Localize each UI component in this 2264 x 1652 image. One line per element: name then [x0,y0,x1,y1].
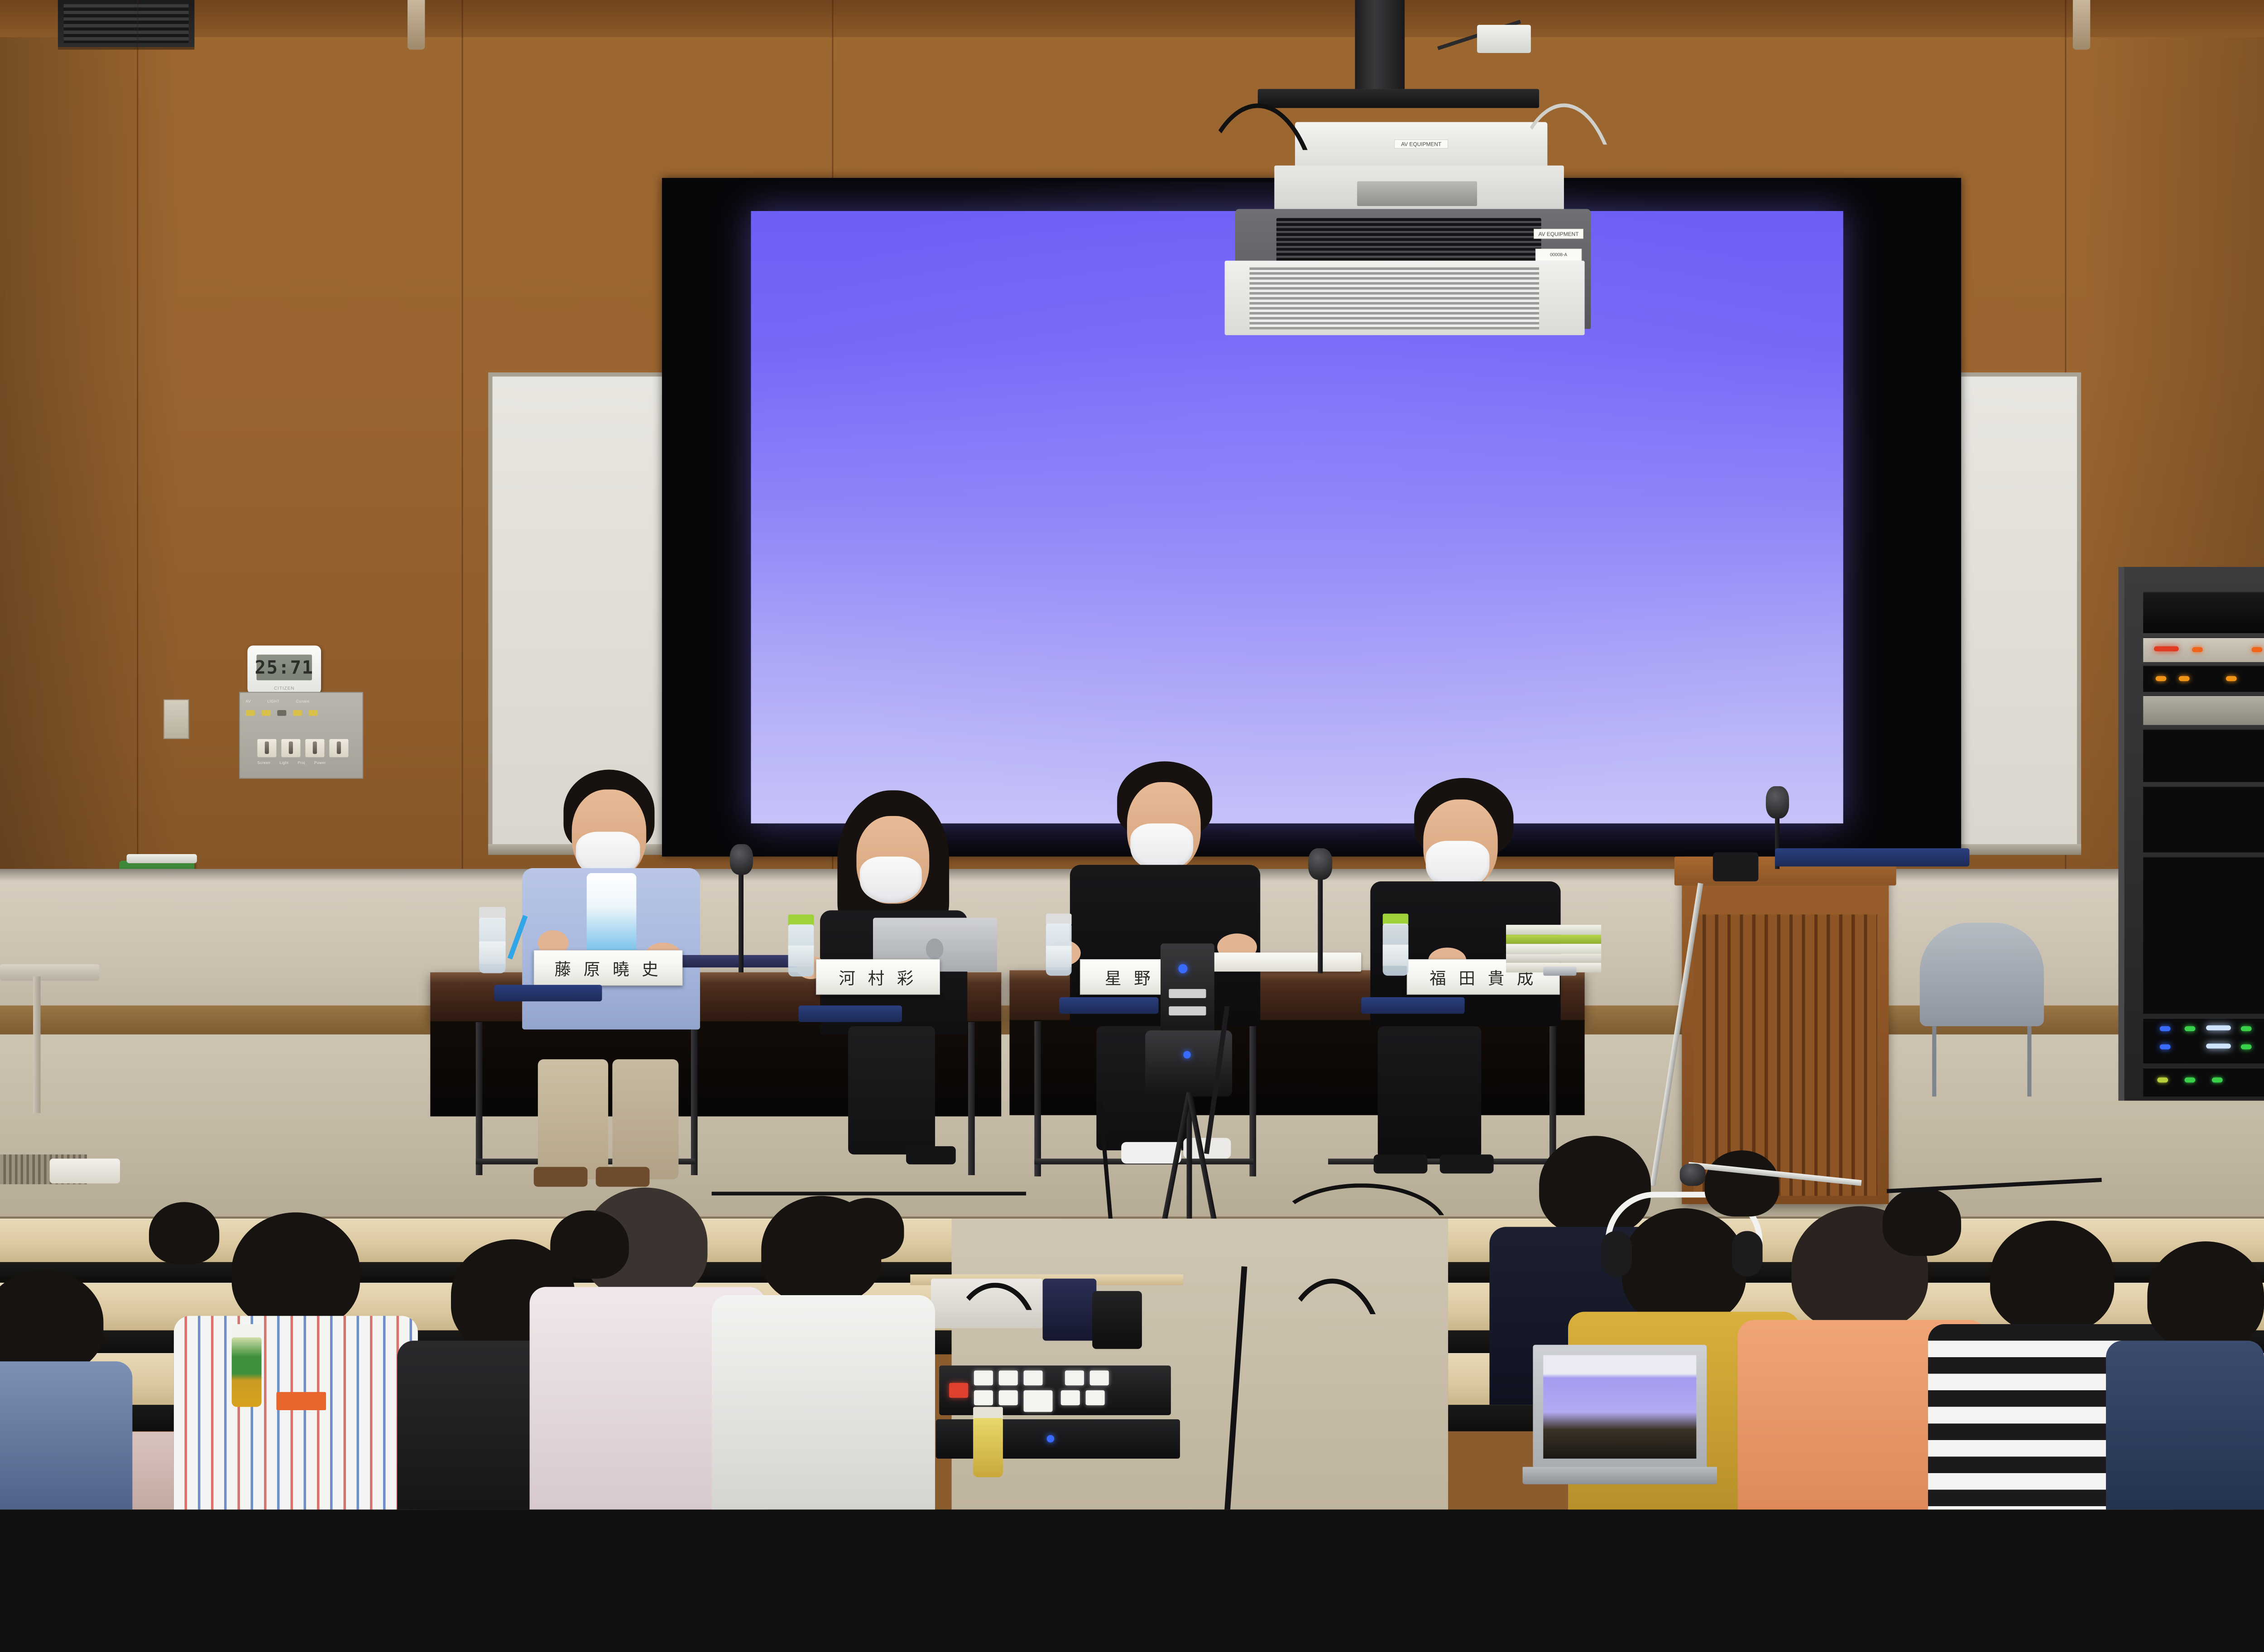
chair-back [1920,923,2044,1026]
wall-switch-proj[interactable] [305,739,324,757]
switch-label-light: Light [279,760,288,764]
panelist-1-legs-2 [612,1059,678,1179]
sender-top-cap [127,854,197,863]
lecture-hall-photo: 25:71 CITIZEN AV LIGHT Curtain Screen Li… [0,0,2264,1509]
switcher-button-1[interactable] [974,1370,993,1385]
left-rail-post [33,976,40,1113]
rack-led-white-2 [2206,1043,2231,1048]
panelist-2-legs [848,1026,935,1154]
audience-head-6 [149,1202,219,1264]
switcher-button-9[interactable] [1086,1390,1105,1405]
panelist-4-shoe-right [1440,1154,1494,1173]
projector-mount-tray [1258,89,1539,108]
panel-chair-1 [494,985,602,1002]
switch-label-proj: Proj [297,760,305,764]
switcher-button-4[interactable] [1065,1370,1084,1385]
switcher-button-3[interactable] [1024,1370,1043,1385]
panel-chair-2 [799,1005,902,1022]
projector-mount-pole [1355,0,1405,89]
table-mic-head-3 [1308,848,1332,879]
audience-head-12 [1990,1221,2114,1333]
nameplate-panelist-1: 藤 原 曉 史 [534,950,683,986]
table-mic-head-2 [730,844,753,875]
lectern-camera-mount [1713,852,1759,881]
operator-paper [931,1278,1043,1328]
panelist-3-papers [1212,952,1361,971]
audience-head-15 [1883,1187,1962,1256]
bottle-body [232,1337,262,1407]
table-mic-stem-3 [1318,865,1323,973]
rack-led-white [2206,1025,2231,1030]
panelist-1-shoe-right [596,1167,650,1187]
orange-notebook [276,1392,326,1410]
switcher-button-6[interactable] [974,1390,993,1405]
audience-head-8 [832,1198,904,1260]
laptop-screen-live-feed [1543,1355,1696,1459]
smartphone[interactable] [1543,967,1576,976]
rack-led-lime-3 [2212,1077,2223,1082]
panel-label-av: AV [246,699,251,703]
camera-record-led [1178,964,1187,973]
rack-unit-amp [2143,637,2264,662]
projector-asset-tag: 00008-A [1535,249,1582,261]
left-rail [0,964,99,981]
tripod-head-led [1183,1051,1190,1058]
rack-led-green-3 [2241,1044,2252,1049]
ceiling-fixture-left [408,0,425,50]
audience-head-13 [2147,1241,2264,1349]
panelist-2-face-mask [860,856,922,903]
wall-plate-left [163,699,189,739]
ceiling-fixture-right [2073,0,2090,50]
panel-chair-4 [1361,997,1464,1014]
switcher-button-2[interactable] [999,1370,1018,1385]
audience-body-5 [712,1295,935,1509]
green-tea-bottle[interactable] [232,1324,262,1407]
audience-body-1 [0,1361,132,1509]
water-bottle-1[interactable] [479,907,505,973]
digital-wall-clock: 25:71 CITIZEN [247,645,321,694]
projector-upper-housing: AV EQUIPMENT [1295,122,1547,168]
stage-floor-cable-2 [712,1192,1026,1196]
rack-led-red [2154,646,2179,651]
panelist-1-shoe-left [534,1167,588,1187]
book-stack [1506,925,1601,972]
av-equipment-rack[interactable] [2118,567,2264,1101]
bottle-cap [973,1407,1003,1420]
panel-chair-3 [1059,997,1158,1014]
bottle-label [1046,946,1072,967]
rack-led-amber-2 [2179,676,2190,681]
panel-label-light: LIGHT [268,699,280,703]
panelist-1-legs [538,1059,608,1179]
rack-led-amber-1 [2156,676,2167,681]
table-leg [968,1022,975,1175]
audio-interface[interactable] [936,1419,1180,1459]
projector-front-panel [1225,261,1585,335]
panel-led-4 [293,710,302,716]
rack-led-blue-1 [2160,1026,2171,1031]
rack-led-lime-2 [2185,1077,2196,1082]
tea-bottle-operator[interactable] [973,1407,1003,1477]
rack-unit-network [2143,1018,2264,1064]
headphone-pair-on-desk[interactable] [1043,1278,1097,1340]
bottle-label [479,941,505,964]
boom-mic-head [1680,1163,1706,1186]
camera-strip-1 [1169,989,1206,998]
audience-head-2 [232,1212,360,1328]
rack-led-orange-1 [2192,647,2203,652]
lectern-mic-head [1766,786,1789,818]
switcher-button-program[interactable] [1024,1390,1053,1412]
table-leg [691,1022,698,1175]
wall-switch-power[interactable] [329,739,348,757]
table-mic-stem-2 [739,861,743,973]
bottle-label [1383,945,1409,966]
projector-tag-upper: AV EQUIPMENT [1394,139,1448,149]
panelist-2-shoe [906,1146,956,1164]
book-2 [1506,935,1601,944]
panelist-3-face-mask [1130,823,1193,870]
water-bottle-4[interactable] [1383,914,1409,976]
bottle-label [788,946,814,967]
rack-unit-player[interactable] [2143,695,2264,725]
rack-led-lime-1 [2157,1077,2168,1082]
audience-body-2-striped-shirt [174,1316,418,1510]
rack-unit-4 [2143,786,2264,852]
wall-switch-light[interactable] [281,739,300,757]
headphone-cup-left [1601,1231,1632,1277]
camera-strip-2 [1169,1006,1206,1015]
book-3 [1506,944,1601,954]
bottle-cap [479,907,505,919]
rack-led-blue-2 [2160,1044,2171,1049]
apple-logo-icon [926,938,943,959]
panel-led-2 [261,710,270,716]
camera-battery-pack [1092,1291,1142,1349]
switcher-record-button[interactable] [949,1383,968,1398]
clock-display: 25:71 [257,655,312,681]
rack-led-green-2 [2241,1026,2252,1031]
table-leg [1034,1021,1041,1177]
water-bottle-2[interactable] [788,914,814,976]
ceiling-vent [58,0,195,50]
chair-cushion [1775,848,1969,866]
panelist-4-shoe-left [1374,1154,1428,1173]
audio-interface-led [1047,1435,1054,1442]
bottle-cap [232,1324,262,1339]
audience-laptop-base[interactable] [1523,1467,1717,1484]
rack-unit-5 [2143,856,2264,1013]
ceiling-band [0,0,2264,37]
switch-label-screen: Screen [257,760,270,764]
panel-led-1 [246,710,255,716]
table-leg [476,1022,483,1175]
switch-label-power: Power [314,760,326,764]
bottle-body [973,1418,1003,1477]
wall-control-panel[interactable]: AV LIGHT Curtain Screen Light Proj Power [239,692,363,779]
center-aisle-floor [952,1219,1448,1509]
panel-label-curtain: Curtain [296,699,310,703]
rack-unit-2 [2143,665,2264,692]
panel-led-3 [277,710,286,716]
rack-led-amber-3 [2226,676,2237,681]
panel-led-5 [309,710,318,716]
switcher-button-7[interactable] [999,1390,1018,1405]
nameplate-panelist-2: 河 村 彩 [816,959,940,995]
chair-legs [1932,1026,2031,1096]
water-bottle-3[interactable] [1046,914,1072,976]
projector-exhaust-vents [1250,267,1540,329]
audience-head-14 [1705,1150,1779,1216]
lectern-slats [1693,914,1877,1196]
audience-body-13 [2106,1341,2264,1510]
rack-unit-6 [2143,1067,2264,1096]
panelist-4-legs [1378,1026,1481,1158]
audience-head-7 [550,1210,629,1279]
rack-led-orange-2 [2252,647,2263,652]
wall-switch-screen[interactable] [257,739,276,757]
clock-brand: CITIZEN [247,686,321,691]
book-1 [1506,925,1601,935]
switcher-button-5[interactable] [1090,1370,1109,1385]
book-4 [1506,954,1601,963]
paper-on-floor [50,1158,120,1183]
rack-led-green-1 [2185,1026,2196,1031]
stage-chair[interactable] [1920,923,2044,1097]
rack-unit-1 [2143,592,2264,633]
rack-unit-3 [2143,729,2264,782]
lectern [1682,856,1889,1204]
headphone-cup-right [1732,1231,1763,1277]
projector-tag-side: AV EQUIPMENT [1534,229,1583,239]
ceiling-power-brick [1477,25,1531,53]
switcher-button-8[interactable] [1061,1390,1080,1405]
